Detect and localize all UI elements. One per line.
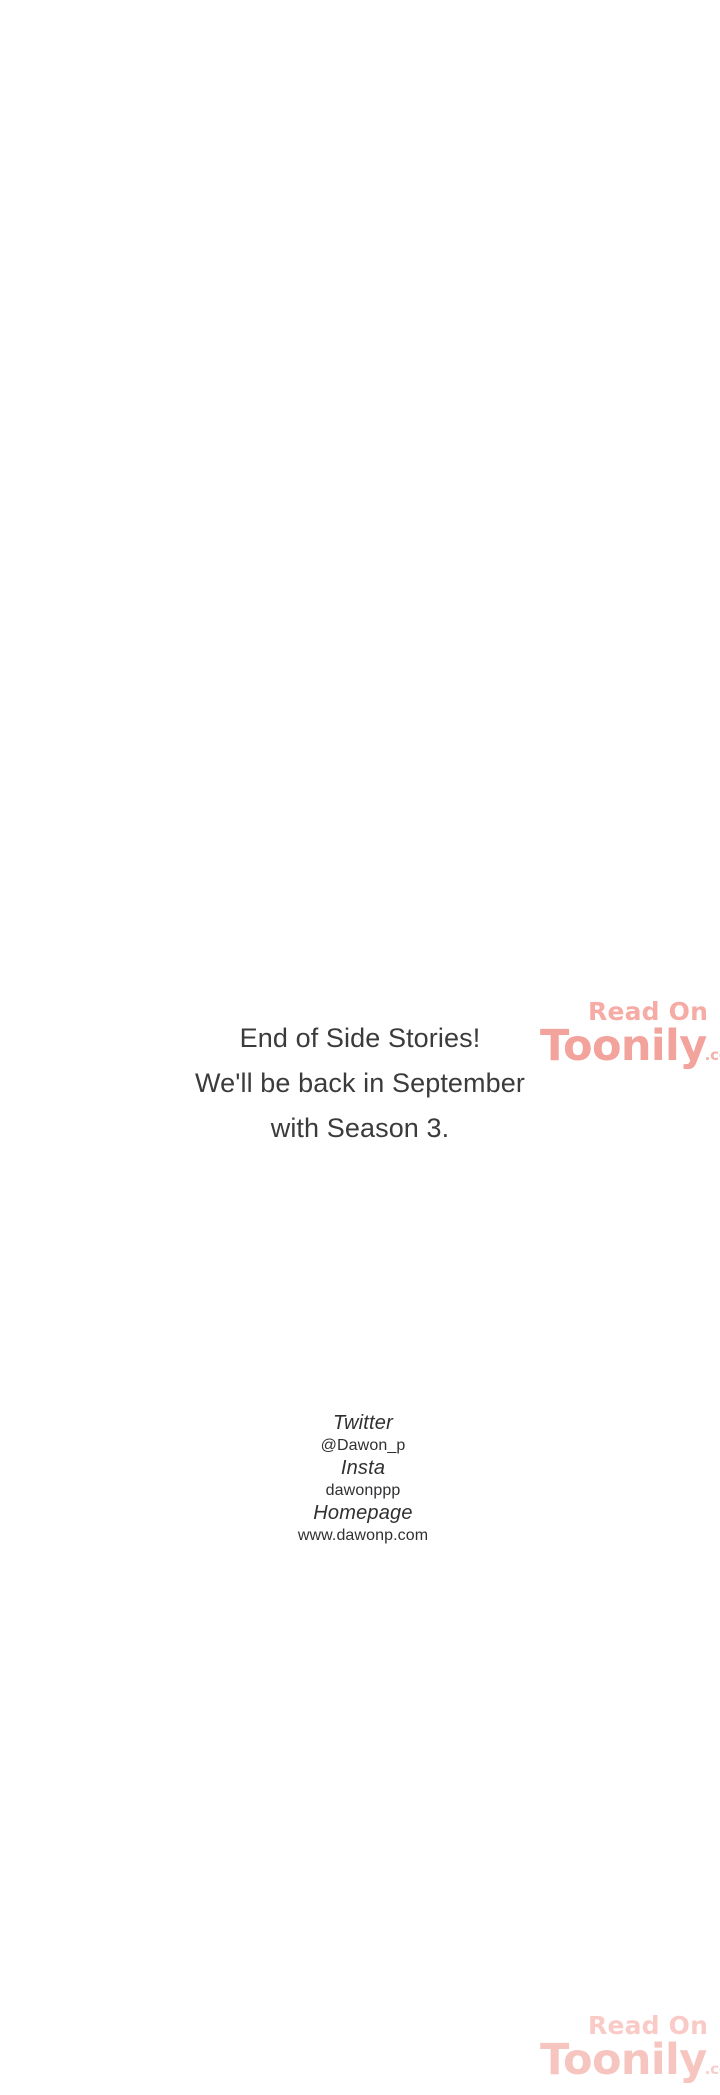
- credit-value-insta: dawonppp: [6, 1480, 720, 1502]
- announcement-line-2: We'll be back in September: [0, 1061, 720, 1106]
- announcement-line-1: End of Side Stories!: [0, 1016, 720, 1061]
- watermark-tld: .com: [705, 2062, 720, 2083]
- toonily-watermark-bottom: Read On Toonily .com: [540, 2012, 720, 2090]
- watermark-brand-row: Toonily .com: [540, 2037, 720, 2083]
- credit-group-twitter: Twitter @Dawon_p: [6, 1412, 720, 1457]
- credit-label-twitter: Twitter: [6, 1412, 720, 1435]
- credit-label-homepage: Homepage: [6, 1502, 720, 1525]
- credit-label-insta: Insta: [6, 1457, 720, 1480]
- announcement-line-3: with Season 3.: [0, 1106, 720, 1151]
- watermark-brand: Toonily: [540, 2037, 707, 2083]
- credit-group-insta: Insta dawonppp: [6, 1457, 720, 1502]
- watermark-tagline: Read On: [588, 2012, 708, 2040]
- announcement-block: End of Side Stories! We'll be back in Se…: [0, 1016, 720, 1151]
- author-credits-block: Twitter @Dawon_p Insta dawonppp Homepage…: [0, 1412, 720, 1547]
- comic-page: End of Side Stories! We'll be back in Se…: [0, 0, 720, 2095]
- credit-value-twitter: @Dawon_p: [6, 1435, 720, 1457]
- credit-group-homepage: Homepage www.dawonp.com: [6, 1502, 720, 1547]
- credit-value-homepage: www.dawonp.com: [6, 1525, 720, 1547]
